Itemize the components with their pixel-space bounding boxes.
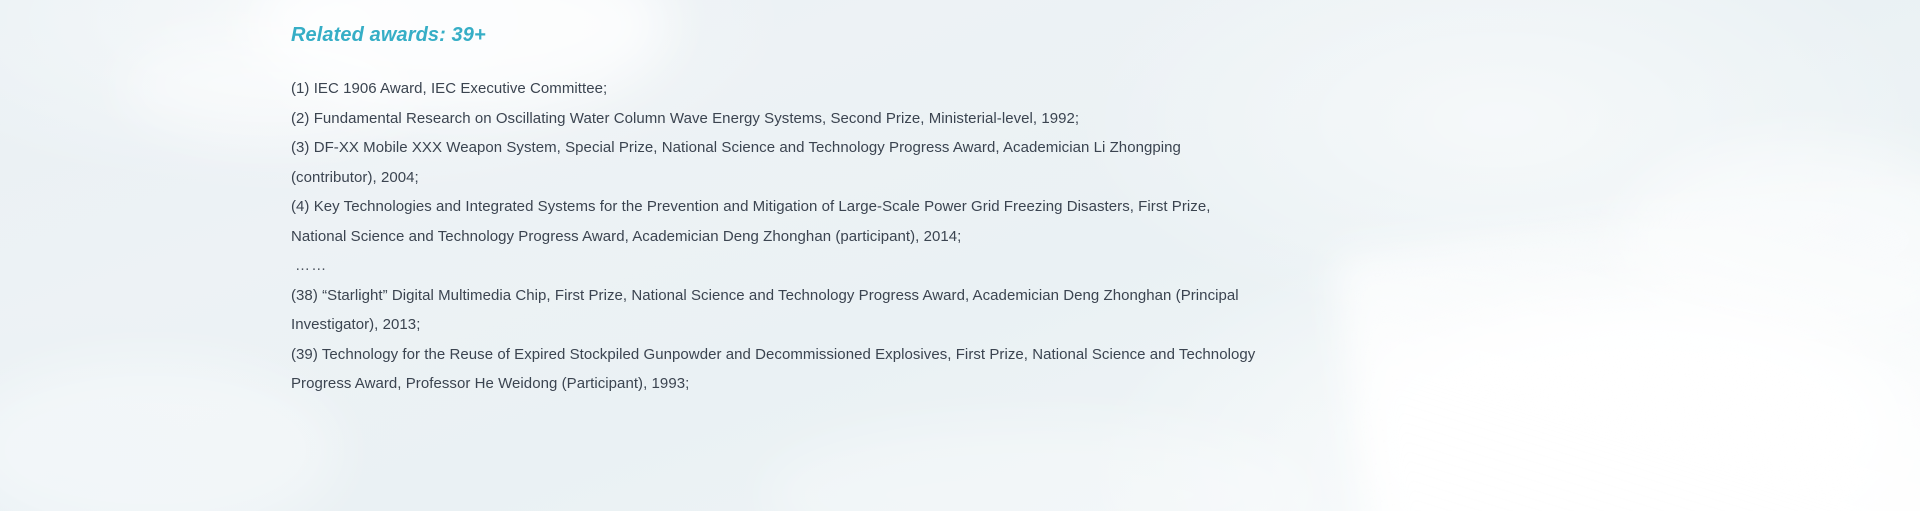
background-ridge-decoration — [1334, 169, 1920, 511]
slide-canvas: Related awards: 39+ (1) IEC 1906 Award, … — [0, 0, 1920, 511]
cloud-wisp-decoration — [1620, 140, 1920, 340]
cloud-wisp-decoration — [0, 360, 340, 511]
list-item: (2) Fundamental Research on Oscillating … — [291, 104, 1271, 134]
list-item: (38) “Starlight” Digital Multimedia Chip… — [291, 281, 1266, 340]
awards-section: Related awards: 39+ (1) IEC 1906 Award, … — [291, 0, 1281, 399]
list-item: (39) Technology for the Reuse of Expired… — [291, 340, 1263, 399]
list-item: (3) DF-XX Mobile XXX Weapon System, Spec… — [291, 133, 1256, 192]
list-item-ellipsis: …… — [291, 251, 1281, 281]
cloud-wisp-decoration — [1380, 300, 1900, 511]
awards-list: (1) IEC 1906 Award, IEC Executive Commit… — [291, 48, 1281, 399]
list-item: (4) Key Technologies and Integrated Syst… — [291, 192, 1246, 251]
list-item: (1) IEC 1906 Award, IEC Executive Commit… — [291, 74, 1271, 104]
awards-heading: Related awards: 39+ — [291, 0, 1281, 48]
cloud-wisp-decoration — [760, 420, 1320, 511]
